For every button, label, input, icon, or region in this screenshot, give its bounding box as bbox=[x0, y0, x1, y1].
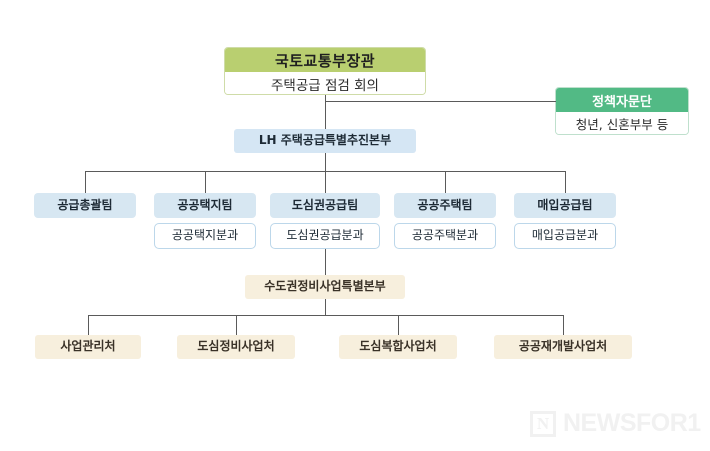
connector-subteam-to-metro bbox=[325, 249, 326, 275]
team-box-5: 매입공급팀 bbox=[514, 193, 616, 218]
connector-drop-dept-3 bbox=[398, 315, 399, 335]
newsfor1-logo-text: NEWSFOR1 bbox=[563, 409, 701, 438]
subteam-box-2: 공공택지분과 bbox=[154, 223, 256, 249]
subteam-box-3: 도심권공급분과 bbox=[270, 223, 380, 249]
connector-drop-team-2 bbox=[205, 171, 206, 193]
connector-departments-bus bbox=[88, 315, 563, 316]
advisory-subtitle: 청년, 신혼부부 등 bbox=[556, 112, 688, 135]
subteam-box-4: 공공주택분과 bbox=[394, 223, 496, 249]
connector-drop-team-1 bbox=[85, 171, 86, 193]
headquarters-box: LH 주택공급특별추진본부 bbox=[234, 129, 416, 153]
connector-hq-stem bbox=[325, 153, 326, 171]
department-box-1: 사업관리처 bbox=[35, 335, 141, 359]
connector-drop-dept-2 bbox=[236, 315, 237, 335]
department-box-2: 도심정비사업처 bbox=[177, 335, 295, 359]
team-box-3: 도심권공급팀 bbox=[270, 193, 380, 218]
team-box-1: 공급총괄팀 bbox=[34, 193, 136, 218]
team-box-4: 공공주택팀 bbox=[394, 193, 496, 218]
metro-hq-box: 수도권정비사업특별본부 bbox=[245, 275, 405, 299]
minister-title: 국토교통부장관 bbox=[225, 48, 425, 72]
connector-drop-team-4 bbox=[445, 171, 446, 193]
newsfor1-watermark: N NEWSFOR1 bbox=[530, 409, 701, 438]
department-box-3: 도심복합사업처 bbox=[339, 335, 457, 359]
subteam-box-5: 매입공급분과 bbox=[514, 223, 616, 249]
connector-drop-dept-1 bbox=[88, 315, 89, 335]
team-box-2: 공공택지팀 bbox=[154, 193, 256, 218]
connector-drop-team-3 bbox=[325, 171, 326, 193]
minister-subtitle: 주택공급 점검 회의 bbox=[225, 72, 425, 95]
minister-card: 국토교통부장관 주택공급 점검 회의 bbox=[224, 47, 426, 95]
department-box-4: 공공재개발사업처 bbox=[494, 335, 632, 359]
advisory-card: 정책자문단 청년, 신혼부부 등 bbox=[555, 87, 689, 135]
newsfor1-logo-icon: N bbox=[530, 411, 556, 437]
advisory-title: 정책자문단 bbox=[556, 88, 688, 112]
org-chart-canvas: 국토교통부장관 주택공급 점검 회의 정책자문단 청년, 신혼부부 등 LH 주… bbox=[0, 0, 710, 451]
connector-drop-team-5 bbox=[565, 171, 566, 193]
connector-drop-dept-4 bbox=[563, 315, 564, 335]
connector-metro-stem bbox=[325, 299, 326, 315]
connector-minister-to-advisory bbox=[325, 101, 556, 102]
